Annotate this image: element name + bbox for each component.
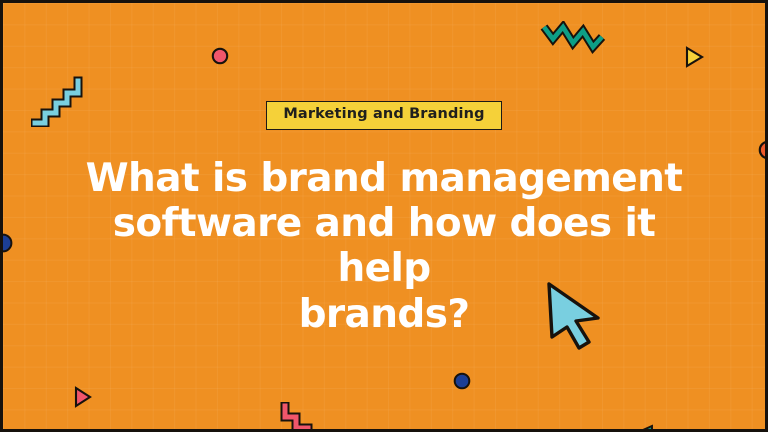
category-badge: Marketing and Branding — [266, 101, 501, 130]
headline-line-3: brands? — [64, 292, 704, 337]
slide-canvas: Marketing and Branding What is brand man… — [0, 0, 768, 432]
headline-line-1: What is brand management — [64, 156, 704, 201]
page-title: What is brand management software and ho… — [64, 156, 704, 337]
slide-content: Marketing and Branding What is brand man… — [3, 3, 765, 429]
headline-line-2: software and how does it help — [64, 201, 704, 291]
